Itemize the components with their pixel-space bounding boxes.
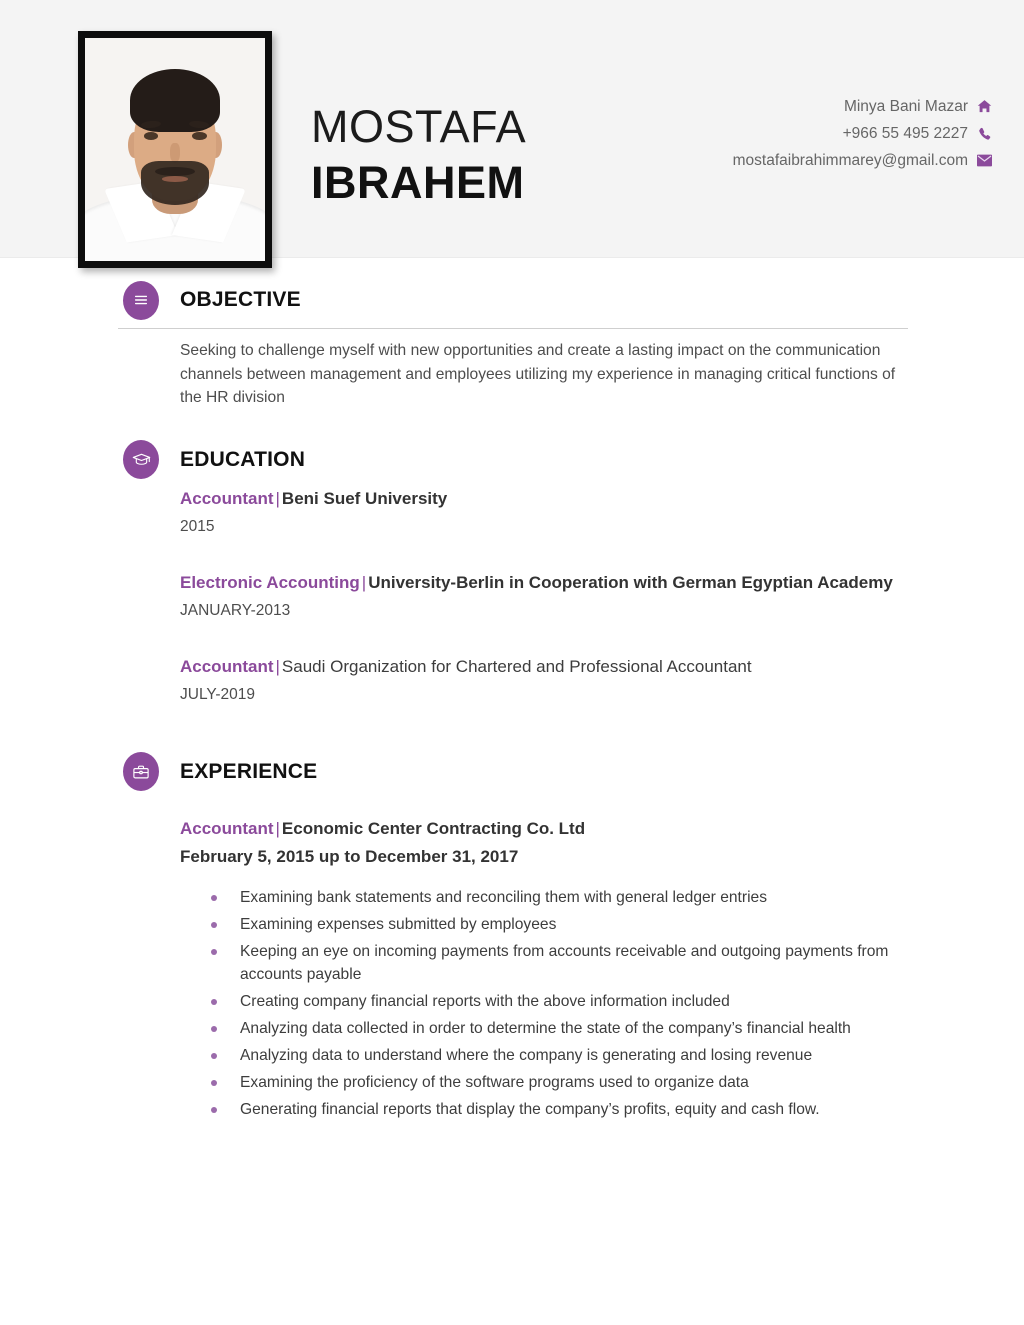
education-entry-role: Electronic Accounting xyxy=(180,573,360,592)
list-item-text: Generating financial reports that displa… xyxy=(240,1098,820,1121)
section-experience-body: Accountant|Economic Center Contracting C… xyxy=(180,816,910,1121)
objective-text: Seeking to challenge myself with new opp… xyxy=(180,339,910,410)
education-entry-title: Accountant|Beni Suef University xyxy=(180,486,910,512)
first-name: MOSTAFA xyxy=(311,100,526,154)
education-entry-separator: | xyxy=(274,657,282,676)
list-item: Examining the proficiency of the softwar… xyxy=(180,1071,910,1094)
page-title: MOSTAFA IBRAHEM xyxy=(311,100,526,212)
education-entry-date: JULY-2019 xyxy=(180,682,910,708)
education-entry-date: 2015 xyxy=(180,514,910,540)
education-entry: Electronic Accounting|University-Berlin … xyxy=(180,570,910,624)
experience-bullet-list: Examining bank statements and reconcilin… xyxy=(180,886,910,1121)
experience-entry: Accountant|Economic Center Contracting C… xyxy=(180,816,910,1121)
experience-entry-role: Accountant xyxy=(180,819,274,838)
education-entry-institution: Saudi Organization for Chartered and Pro… xyxy=(282,657,752,676)
briefcase-icon xyxy=(123,752,159,791)
home-icon xyxy=(977,99,992,114)
list-item-text: Examining bank statements and reconcilin… xyxy=(240,886,767,909)
list-item-text: Examining expenses submitted by employee… xyxy=(240,913,556,936)
list-item: Generating financial reports that displa… xyxy=(180,1098,910,1121)
section-objective: OBJECTIVE Seeking to challenge myself wi… xyxy=(0,278,1024,410)
section-objective-header: OBJECTIVE xyxy=(0,278,1024,322)
resume-body: OBJECTIVE Seeking to challenge myself wi… xyxy=(0,258,1024,1125)
list-icon xyxy=(123,281,159,320)
education-entry-institution: Beni Suef University xyxy=(282,489,447,508)
section-education-header: EDUCATION xyxy=(0,438,1024,482)
contact-email[interactable]: mostafaibrahimmarey@gmail.com xyxy=(733,150,992,171)
education-entry-title: Electronic Accounting|University-Berlin … xyxy=(180,570,910,596)
list-item-text: Creating company financial reports with … xyxy=(240,990,730,1013)
section-education: EDUCATION Accountant|Beni Suef Universit… xyxy=(0,438,1024,708)
section-experience-title: EXPERIENCE xyxy=(180,760,317,784)
contact-list: Minya Bani Mazar +966 55 495 2227 mostaf… xyxy=(733,96,992,177)
section-education-title: EDUCATION xyxy=(180,448,305,472)
contact-email-value: mostafaibrahimmarey@gmail.com xyxy=(733,150,968,171)
education-entry-date: JANUARY-2013 xyxy=(180,598,910,624)
experience-entry-date: February 5, 2015 up to December 31, 2017 xyxy=(180,844,910,870)
avatar xyxy=(78,31,272,268)
education-entry: Accountant|Beni Suef University 2015 xyxy=(180,486,910,540)
section-objective-divider xyxy=(118,328,908,329)
section-objective-title: OBJECTIVE xyxy=(180,288,301,312)
contact-phone-value: +966 55 495 2227 xyxy=(843,123,968,144)
list-item-text: Analyzing data to understand where the c… xyxy=(240,1044,812,1067)
experience-entry-title: Accountant|Economic Center Contracting C… xyxy=(180,816,910,842)
contact-phone[interactable]: +966 55 495 2227 xyxy=(733,123,992,144)
education-entry-role: Accountant xyxy=(180,489,274,508)
contact-address[interactable]: Minya Bani Mazar xyxy=(733,96,992,117)
list-item-text: Analyzing data collected in order to det… xyxy=(240,1017,851,1040)
section-experience: EXPERIENCE Accountant|Economic Center Co… xyxy=(0,750,1024,1121)
education-entry-separator: | xyxy=(274,489,282,508)
list-item: Keeping an eye on incoming payments from… xyxy=(180,940,910,986)
avatar-image xyxy=(85,38,265,261)
experience-entry-separator: | xyxy=(274,819,282,838)
list-item-text: Keeping an eye on incoming payments from… xyxy=(240,940,910,986)
list-item: Examining expenses submitted by employee… xyxy=(180,913,910,936)
list-item: Examining bank statements and reconcilin… xyxy=(180,886,910,909)
list-item: Creating company financial reports with … xyxy=(180,990,910,1013)
education-entry-title: Accountant|Saudi Organization for Charte… xyxy=(180,654,910,680)
education-entry-separator: | xyxy=(360,573,368,592)
list-item-text: Examining the proficiency of the softwar… xyxy=(240,1071,749,1094)
list-item: Analyzing data to understand where the c… xyxy=(180,1044,910,1067)
section-objective-body: Seeking to challenge myself with new opp… xyxy=(180,339,910,410)
education-entry: Accountant|Saudi Organization for Charte… xyxy=(180,654,910,708)
portrait-illustration xyxy=(85,38,265,261)
contact-address-value: Minya Bani Mazar xyxy=(844,96,968,117)
section-education-body: Accountant|Beni Suef University 2015 Ele… xyxy=(180,486,910,708)
list-item: Analyzing data collected in order to det… xyxy=(180,1017,910,1040)
phone-icon xyxy=(977,126,992,141)
education-entry-role: Accountant xyxy=(180,657,274,676)
education-entry-institution: University-Berlin in Cooperation with Ge… xyxy=(368,573,893,592)
email-icon xyxy=(977,153,992,168)
section-experience-header: EXPERIENCE xyxy=(0,750,1024,794)
experience-entry-company: Economic Center Contracting Co. Ltd xyxy=(282,819,585,838)
graduation-cap-icon xyxy=(123,440,159,479)
last-name: IBRAHEM xyxy=(311,154,526,212)
